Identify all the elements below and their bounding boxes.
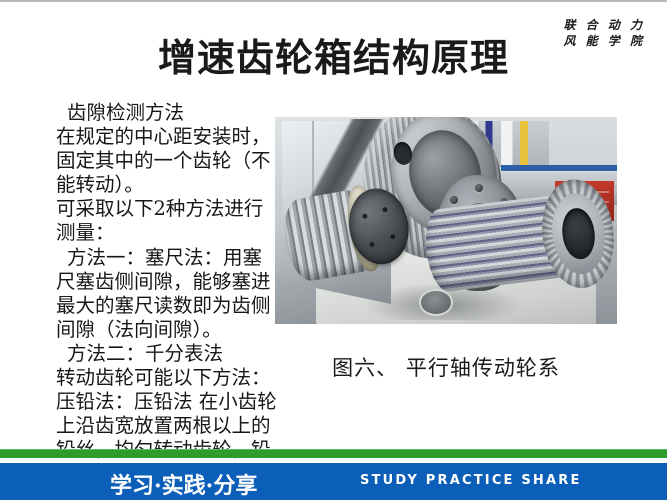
gearbox-photo	[275, 117, 617, 324]
body-heading: 齿隙检测方法	[56, 101, 278, 125]
gearbox-photo-canvas	[275, 117, 617, 324]
figure-caption: 图六、 平行轴传动轮系	[275, 352, 617, 382]
body-paragraph-5: 转动齿轮可能以下方法：	[56, 366, 278, 390]
footer-slogan-en: STUDY PRACTICE SHARE	[360, 473, 582, 488]
body-paragraph-2: 可采取以下2种方法进行测量：	[56, 197, 278, 245]
footer-green-band	[0, 449, 667, 458]
body-text-column: 齿隙检测方法 在规定的中心距安装时，固定其中的一个齿轮（不能转动）。 可采取以下…	[56, 101, 278, 500]
brand-logo-line-1: 联 合 动 力	[563, 17, 645, 33]
body-paragraph-1: 在规定的中心距安装时，固定其中的一个齿轮（不能转动）。	[56, 125, 278, 197]
body-paragraph-3: 方法一：塞尺法：用塞尺塞齿侧间隙，能够塞进最大的塞尺读数即为齿侧间隙（法向间隙）…	[56, 246, 278, 342]
body-paragraph-4: 方法二：千分表法	[56, 342, 278, 366]
slide-root: 联 合 动 力 风 能 学 院 增速齿轮箱结构原理 齿隙检测方法 在规定的中心距…	[0, 0, 667, 500]
gearbox-housing-bore	[419, 289, 454, 316]
top-hairline-divider	[0, 0, 667, 2]
footer-slogan-cn: 学习·实践·分享	[110, 468, 257, 500]
page-title: 增速齿轮箱结构原理	[0, 36, 667, 80]
